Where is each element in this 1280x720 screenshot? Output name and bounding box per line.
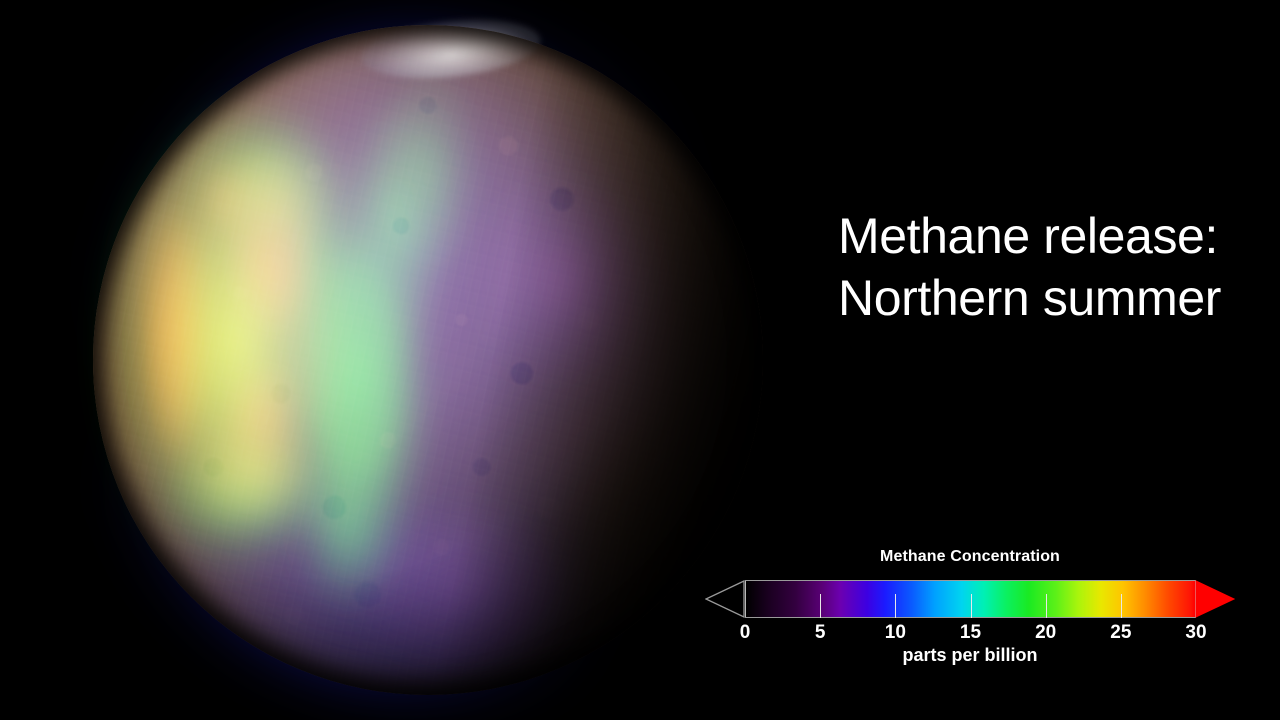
colorbar-tick-label: 20 xyxy=(1035,622,1056,644)
methane-colorbar-legend: Methane Concentration 051015202530 parts… xyxy=(700,548,1240,673)
mars-globe xyxy=(93,25,763,695)
colorbar-tick-label: 25 xyxy=(1110,622,1131,644)
scene-canvas: Methane release: Northern summer Methane… xyxy=(0,0,1280,720)
colorbar-tick-labels: 051015202530 xyxy=(700,622,1240,646)
colorbar-tick-label: 15 xyxy=(960,622,981,644)
colorbar-tick-label: 10 xyxy=(885,622,906,644)
colorbar-high-arrow-icon xyxy=(1195,580,1235,618)
scene-title: Methane release: Northern summer xyxy=(838,205,1258,329)
colorbar-tick-label: 30 xyxy=(1185,622,1206,644)
colorbar-low-arrow-icon xyxy=(705,580,745,618)
colorbar-title: Methane Concentration xyxy=(700,548,1240,566)
colorbar-tick xyxy=(971,594,972,618)
colorbar-row xyxy=(700,576,1240,622)
globe-edge-feather xyxy=(93,25,763,695)
colorbar-tick xyxy=(820,594,821,618)
colorbar-tick-label: 0 xyxy=(740,622,751,644)
colorbar-tick xyxy=(895,594,896,618)
colorbar-units-label: parts per billion xyxy=(700,645,1240,666)
colorbar-tick xyxy=(1121,594,1122,618)
colorbar-tick-label: 5 xyxy=(815,622,826,644)
title-line-1: Methane release: xyxy=(838,205,1258,267)
colorbar-tick xyxy=(1046,594,1047,618)
title-line-2: Northern summer xyxy=(838,267,1258,329)
